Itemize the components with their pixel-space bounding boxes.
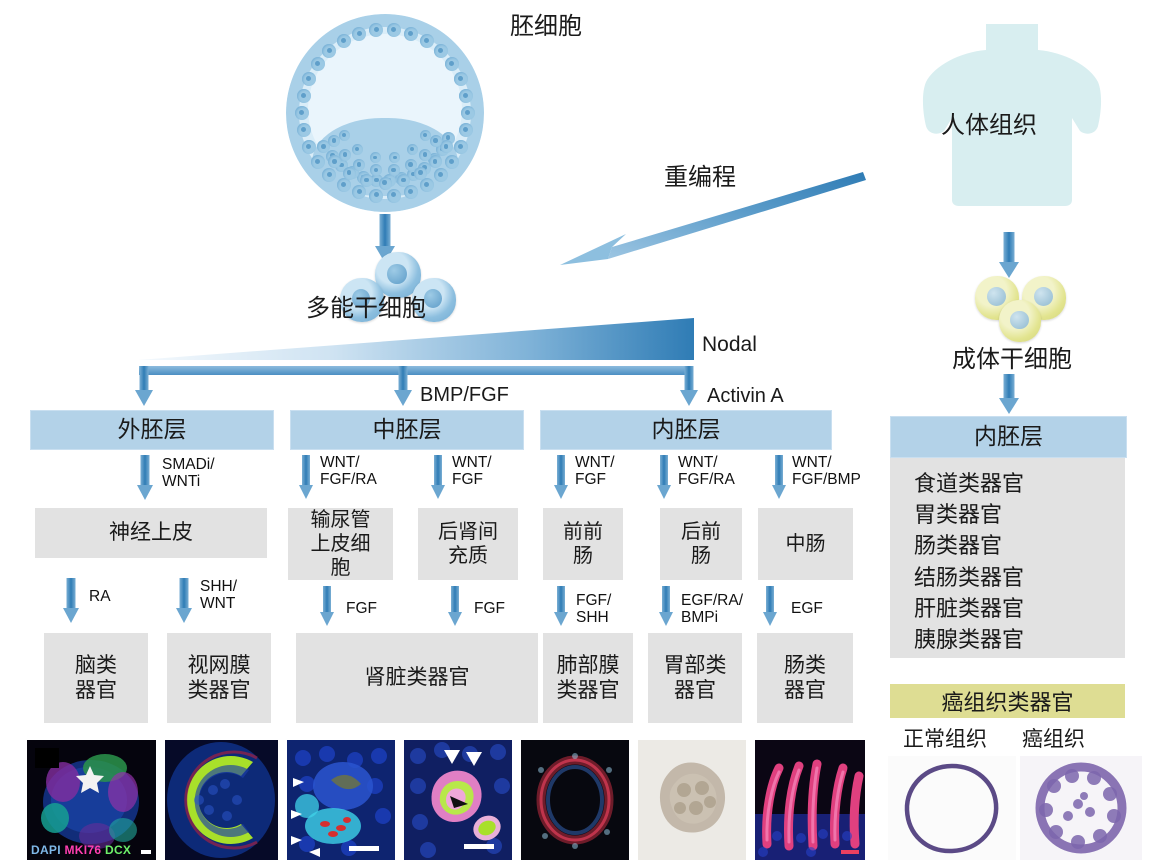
blastocyst-illustration xyxy=(286,14,484,212)
arrow-endoderm-to-posterior-foregut xyxy=(654,455,674,503)
progenitor-ureteric-epithelium[interactable]: 输尿管 上皮细 胞 xyxy=(288,508,393,580)
micrograph-lung-organoid xyxy=(521,740,629,860)
body-title: 人体组织 xyxy=(941,105,1037,140)
signal-label-fgf-a: FGF xyxy=(346,600,377,617)
micrograph-brain-organoid: DAPI MKI76 DCX xyxy=(27,740,156,860)
arrow-anterior-foregut-to-lung xyxy=(551,586,571,630)
arrow-to-mesoderm xyxy=(390,366,416,408)
progenitor-label: 输尿管 上皮细 胞 xyxy=(311,508,371,580)
cancer-organoid-header[interactable]: 癌组织类器官 xyxy=(890,684,1125,718)
right-germ-layer-endoderm[interactable]: 内胚层 xyxy=(890,416,1127,458)
signal-bmp-fgf: BMP/FGF xyxy=(420,384,509,407)
arrow-ectoderm-to-neuroepithelium xyxy=(134,455,156,503)
progenitor-label: 后前 肠 xyxy=(681,520,721,568)
progenitor-label: 中肠 xyxy=(786,532,826,556)
right-organoid-list[interactable]: 食道类器官 胃类器官 肠类器官 结肠类器官 肝脏类器官 胰腺类器官 xyxy=(890,458,1125,658)
signal-label-ra: RA xyxy=(89,588,111,605)
list-item: 食道类器官 xyxy=(914,468,1125,499)
signal-label-wnt-fgf-ra-b: WNT/ FGF/RA xyxy=(678,454,735,489)
arrow-mesoderm-to-metanephric xyxy=(428,455,448,503)
signal-activin-a: Activin A xyxy=(707,385,784,408)
germ-layer-label: 中胚层 xyxy=(373,417,442,443)
arrow-endoderm-to-midgut xyxy=(769,455,789,503)
progenitor-metanephric-mesenchyme[interactable]: 后肾间 充质 xyxy=(418,508,518,580)
organoid-retina[interactable]: 视网膜 类器官 xyxy=(167,633,271,723)
micrograph-gastric-organoid xyxy=(638,740,746,860)
progenitor-neuroepithelium[interactable]: 神经上皮 xyxy=(35,508,267,558)
normal-tissue-caption: 正常组织 xyxy=(903,723,987,753)
progenitor-anterior-foregut[interactable]: 前前 肠 xyxy=(543,508,623,580)
embryo-title: 胚细胞 xyxy=(510,6,582,41)
list-item: 肠类器官 xyxy=(914,530,1125,561)
arrow-body-to-asc xyxy=(992,232,1026,280)
arrow-endoderm-to-anterior-foregut xyxy=(551,455,571,503)
progenitor-posterior-foregut[interactable]: 后前 肠 xyxy=(660,508,742,580)
adult-stem-cells xyxy=(975,276,1071,338)
list-item: 肝脏类器官 xyxy=(914,593,1125,624)
scale-bar xyxy=(141,850,151,854)
micrograph-intestinal-organoid xyxy=(755,740,865,860)
germ-layer-endoderm[interactable]: 内胚层 xyxy=(540,410,832,450)
cancer-tissue-caption: 癌组织 xyxy=(1022,723,1085,753)
arrow-posterior-foregut-to-stomach xyxy=(656,586,676,630)
organoid-label: 视网膜 类器官 xyxy=(188,653,251,703)
signal-label-smadi-wnti: SMADi/ WNTi xyxy=(162,456,215,491)
list-item: 结肠类器官 xyxy=(914,562,1125,593)
arrow-asc-to-endoderm xyxy=(992,374,1026,416)
micrograph-marker-labels: DAPI MKI76 DCX xyxy=(31,843,131,857)
signal-label-egf-ra-bmpi: EGF/RA/ BMPi xyxy=(681,592,743,627)
list-item: 胰腺类器官 xyxy=(914,624,1125,655)
micrograph-metanephric-mesenchyme xyxy=(404,740,512,860)
organoid-label: 肠类 器官 xyxy=(784,653,826,703)
cancer-tissue-micrograph xyxy=(1020,756,1142,860)
organoid-label: 脑类 器官 xyxy=(75,653,117,703)
arrow-ureteric-to-kidney xyxy=(317,586,337,630)
arrow-to-endoderm xyxy=(676,366,702,408)
organoid-brain[interactable]: 脑类 器官 xyxy=(44,633,148,723)
organoid-lung[interactable]: 肺部膜 类器官 xyxy=(543,633,633,723)
cancer-organoid-label: 癌组织类器官 xyxy=(941,685,1073,717)
organoid-label: 肾脏类器官 xyxy=(365,665,470,690)
signal-label-wnt-fgf-ra: WNT/ FGF/RA xyxy=(320,454,377,489)
germ-layer-ectoderm[interactable]: 外胚层 xyxy=(30,410,274,450)
list-item: 胃类器官 xyxy=(914,499,1125,530)
arrow-neuroepithelium-to-retina xyxy=(173,578,195,626)
germ-layer-label: 内胚层 xyxy=(652,417,721,443)
progenitor-label: 后肾间 充质 xyxy=(438,520,498,568)
organoid-label: 肺部膜 类器官 xyxy=(557,653,620,703)
arrow-metanephric-to-kidney xyxy=(445,586,465,630)
organoid-stomach[interactable]: 胃部类 器官 xyxy=(648,633,742,723)
arrow-neuroepithelium-to-brain xyxy=(60,578,82,626)
germ-layer-label: 外胚层 xyxy=(118,417,187,443)
arrow-mesoderm-to-ureteric xyxy=(296,455,316,503)
signal-label-wnt-fgf-bmp: WNT/ FGF/BMP xyxy=(792,454,861,489)
organoid-label: 胃部类 器官 xyxy=(664,653,727,703)
progenitor-midgut[interactable]: 中肠 xyxy=(758,508,853,580)
arrow-midgut-to-intestine xyxy=(760,586,780,630)
micrograph-retinal-organoid xyxy=(165,740,278,860)
nodal-gradient-triangle xyxy=(138,318,694,362)
nodal-label: Nodal xyxy=(702,333,757,357)
signal-label-wnt-fgf-b: WNT/ FGF xyxy=(575,454,615,489)
organoid-intestine[interactable]: 肠类 器官 xyxy=(757,633,853,723)
organoid-kidney[interactable]: 肾脏类器官 xyxy=(296,633,538,723)
signal-label-fgf-shh: FGF/ SHH xyxy=(576,592,611,627)
signal-label-egf: EGF xyxy=(791,600,823,617)
arrow-to-ectoderm xyxy=(131,366,157,408)
normal-tissue-micrograph xyxy=(888,756,1016,860)
progenitor-label: 神经上皮 xyxy=(109,520,193,545)
signal-label-shh-wnt: SHH/ WNT xyxy=(200,578,237,613)
micrograph-ureteric-bud xyxy=(287,740,395,860)
reprogramming-label: 重编程 xyxy=(664,157,736,192)
signal-label-wnt-fgf-a: WNT/ FGF xyxy=(452,454,492,489)
signal-label-fgf-b: FGF xyxy=(474,600,505,617)
germ-layer-label: 内胚层 xyxy=(974,424,1043,450)
progenitor-label: 前前 肠 xyxy=(563,520,603,568)
germ-layer-mesoderm[interactable]: 中胚层 xyxy=(290,410,524,450)
asc-label: 成体干细胞 xyxy=(952,339,1072,374)
